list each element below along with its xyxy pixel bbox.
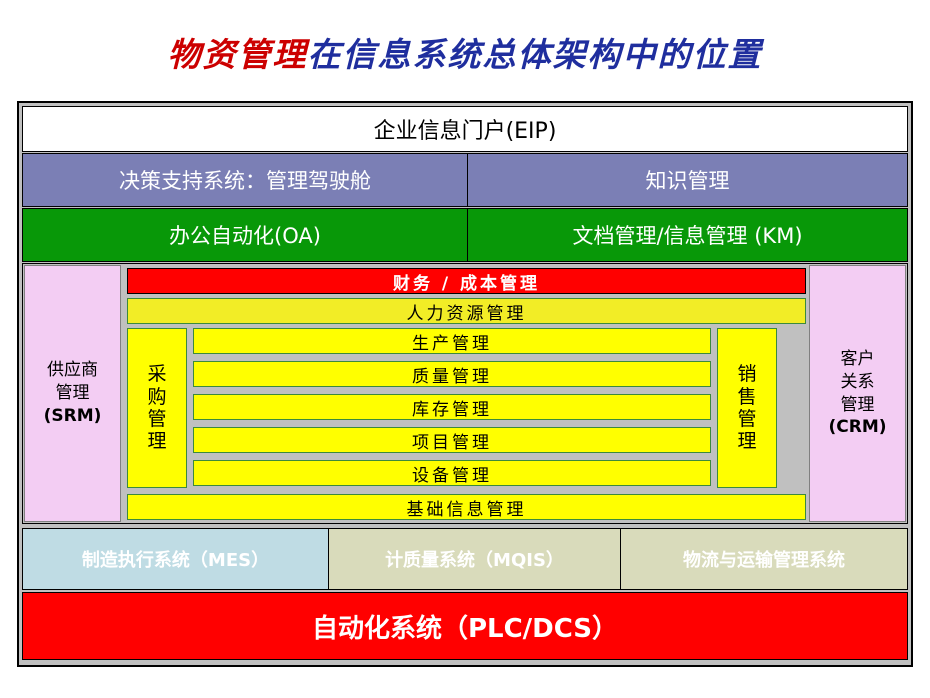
sales-char-2: 售 xyxy=(737,386,756,408)
sales-char-1: 销 xyxy=(737,363,756,385)
column-supplier-relationship-management: 供应商 管理 (SRM) xyxy=(24,265,121,522)
crm-line-3: 管理 xyxy=(841,394,875,417)
page-title-highlight: 物资管理 xyxy=(168,35,308,74)
purchase-char-1: 采 xyxy=(147,363,166,385)
module-human-resource-management: 人力资源管理 xyxy=(127,298,806,324)
srm-line-1: 供应商 xyxy=(47,359,98,382)
layer-knowledge-management: 知识管理 xyxy=(467,153,908,207)
crm-line-1: 客户 xyxy=(841,348,875,371)
layer-automation-system: 自动化系统（PLC/DCS） xyxy=(22,592,908,660)
layer-manufacturing-execution-system: 制造执行系统（MES） xyxy=(22,528,329,590)
layer-measurement-quality-system: 计质量系统（MQIS） xyxy=(328,528,621,590)
layer-office-automation: 办公自动化(OA) xyxy=(22,208,468,262)
module-quality-management: 质量管理 xyxy=(193,361,711,387)
module-basic-information-management: 基础信息管理 xyxy=(127,494,806,520)
sales-char-4: 理 xyxy=(737,430,756,452)
module-project-management: 项目管理 xyxy=(193,427,711,453)
purchase-char-3: 管 xyxy=(147,408,166,430)
architecture-diagram-frame: 企业信息门户(EIP) 决策支持系统：管理驾驶舱 知识管理 办公自动化(OA) … xyxy=(17,101,913,667)
purchase-char-4: 理 xyxy=(147,430,166,452)
column-customer-relationship-management: 客户 关系 管理 (CRM) xyxy=(809,265,906,522)
sales-char-3: 管 xyxy=(737,408,756,430)
layer-decision-support: 决策支持系统：管理驾驶舱 xyxy=(22,153,468,207)
layer-core-business-band: 供应商 管理 (SRM) 客户 关系 管理 (CRM) 财务 / 成本管理 人力… xyxy=(22,263,908,524)
crm-code: (CRM) xyxy=(828,416,886,439)
module-purchase-management: 采 购 管 理 xyxy=(127,328,187,488)
srm-line-2: 管理 xyxy=(56,382,90,405)
architecture-diagram-inner: 企业信息门户(EIP) 决策支持系统：管理驾驶舱 知识管理 办公自动化(OA) … xyxy=(22,106,908,662)
crm-line-2: 关系 xyxy=(841,371,875,394)
srm-code: (SRM) xyxy=(44,405,102,428)
module-production-management: 生产管理 xyxy=(193,328,711,354)
slide-root: 物资管理在信息系统总体架构中的位置 企业信息门户(EIP) 决策支持系统：管理驾… xyxy=(0,0,930,698)
core-module-stack: 生产管理 质量管理 库存管理 项目管理 设备管理 xyxy=(193,328,711,488)
page-title-rest: 在信息系统总体架构中的位置 xyxy=(308,35,763,74)
layer-document-management: 文档管理/信息管理 (KM) xyxy=(467,208,908,262)
layer-enterprise-portal: 企业信息门户(EIP) xyxy=(22,106,908,152)
module-equipment-management: 设备管理 xyxy=(193,460,711,486)
page-title: 物资管理在信息系统总体架构中的位置 xyxy=(0,28,930,76)
module-inventory-management: 库存管理 xyxy=(193,394,711,420)
purchase-char-2: 购 xyxy=(147,386,166,408)
module-finance-cost-management: 财务 / 成本管理 xyxy=(127,268,806,294)
layer-logistics-transport-system: 物流与运输管理系统 xyxy=(620,528,908,590)
module-sales-management: 销 售 管 理 xyxy=(717,328,777,488)
